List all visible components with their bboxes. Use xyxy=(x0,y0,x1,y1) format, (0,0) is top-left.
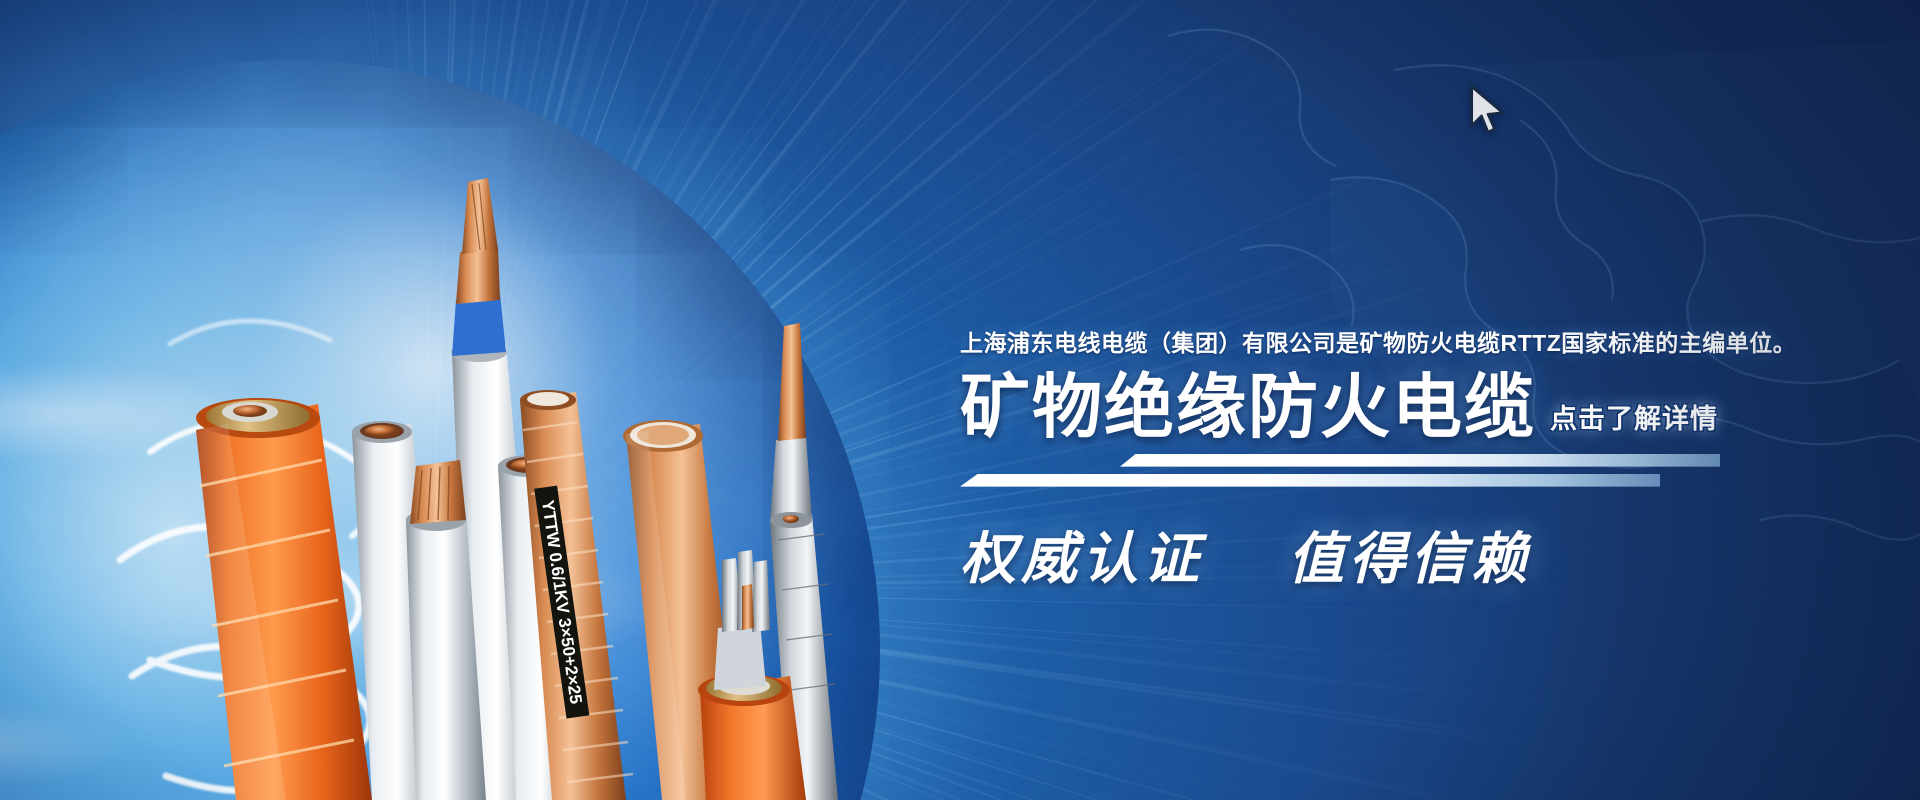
tagline-left: 权威认证 xyxy=(960,529,1204,591)
earth-globe xyxy=(0,60,880,800)
banner-subtitle: 上海浦东电线电缆（集团）有限公司是矿物防火电缆RTTZ国家标准的主编单位。 xyxy=(960,330,1860,358)
banner-tagline: 权威认证 值得信赖 xyxy=(960,514,1860,595)
separator-bar-top xyxy=(1120,454,1720,467)
decorative-separator xyxy=(960,452,1720,504)
banner-copy: 上海浦东电线电缆（集团）有限公司是矿物防火电缆RTTZ国家标准的主编单位。 矿物… xyxy=(960,330,1860,595)
tagline-right: 值得信赖 xyxy=(1288,529,1532,591)
separator-bar-bottom xyxy=(960,474,1660,487)
mouse-cursor-icon xyxy=(1468,85,1508,137)
globe-rim-shadow xyxy=(0,60,880,800)
banner-headline: 矿物绝缘防火电缆 xyxy=(960,372,1536,442)
hero-banner: YTTW 0.6/1KV 3×50+2×25 xyxy=(0,0,1920,800)
headline-row: 矿物绝缘防火电缆 点击了解详情 xyxy=(960,372,1860,442)
learn-more-cta[interactable]: 点击了解详情 xyxy=(1550,397,1718,436)
